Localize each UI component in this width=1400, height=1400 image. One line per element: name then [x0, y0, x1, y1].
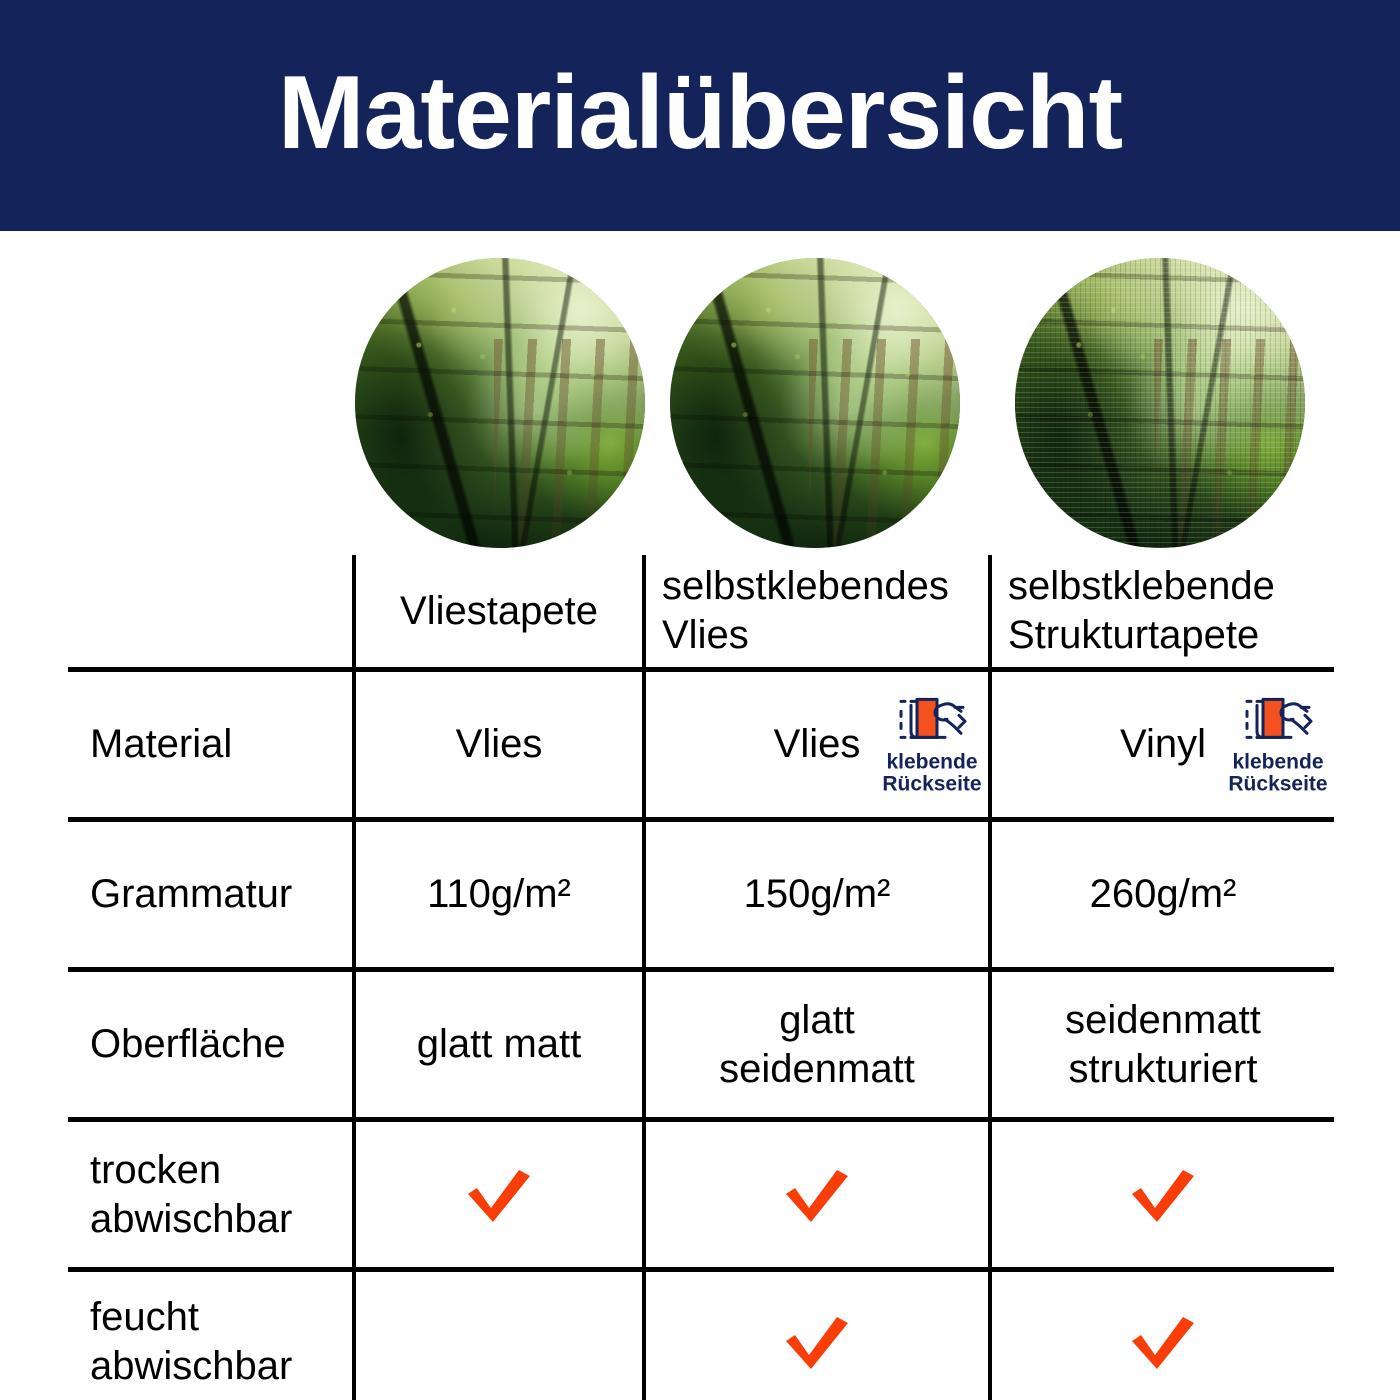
preview-images-row — [0, 258, 1400, 550]
peel-adhesive-backing-icon — [1239, 693, 1317, 749]
cell-value: glatt matt — [417, 1020, 582, 1069]
badge-line-1: klebende — [1232, 750, 1323, 773]
material-overview-page: Materialübersicht — [0, 0, 1400, 1400]
page-title: Materialübersicht — [278, 61, 1122, 165]
page-header-band: Materialübersicht — [0, 0, 1400, 231]
cell-grammatur-selbstklebendes-vlies: 150g/m² — [642, 822, 988, 967]
cell-material-selbstklebende-strukturtapete: Vinyl — [988, 672, 1334, 817]
table-header-selbstklebende-strukturtapete: selbstklebende Strukturtapete — [988, 555, 1334, 667]
row-label-trocken-abwischbar: trocken abwischbar — [68, 1122, 352, 1267]
cell-trocken-vliestapete — [352, 1122, 642, 1267]
cell-oberflaeche-vliestapete: glatt matt — [352, 972, 642, 1117]
checkmark-icon — [780, 1311, 854, 1373]
checkmark-icon — [780, 1164, 854, 1226]
adhesive-backing-badge: klebende Rückseite — [880, 693, 984, 796]
preview-image-selbstklebendes-vlies — [670, 258, 960, 548]
table-header-row: Vliestapete selbstklebendes Vlies selbst… — [68, 555, 1334, 667]
cell-material-vliestapete: Vlies — [352, 672, 642, 817]
adhesive-backing-badge: klebende Rückseite — [1226, 693, 1330, 796]
checkmark-icon — [462, 1164, 536, 1226]
table-row: Grammatur 110g/m² 150g/m² 260g/m² — [68, 817, 1334, 967]
cell-trocken-selbstklebendes-vlies — [642, 1122, 988, 1267]
table-header-vliestapete: Vliestapete — [352, 555, 642, 667]
cell-feucht-selbstklebendes-vlies — [642, 1272, 988, 1400]
table-row: Material Vlies Vlies — [68, 667, 1334, 817]
cell-feucht-selbstklebende-strukturtapete — [988, 1272, 1334, 1400]
forest-photo-icon — [355, 258, 645, 548]
row-label-feucht-abwischbar: feucht abwischbar — [68, 1272, 352, 1400]
cell-value: 110g/m² — [427, 870, 571, 919]
table-row: Oberfläche glatt matt glattseidenmatt se… — [68, 967, 1334, 1117]
cell-value: seidenmattstrukturiert — [1065, 996, 1261, 1094]
cell-value: Vlies — [774, 720, 861, 769]
checkmark-icon — [1126, 1164, 1200, 1226]
forest-photo-icon — [670, 258, 960, 548]
cell-material-selbstklebendes-vlies: Vlies — [642, 672, 988, 817]
table-row: trocken abwischbar — [68, 1117, 1334, 1267]
cell-value: 260g/m² — [1090, 870, 1237, 919]
cell-oberflaeche-selbstklebendes-vlies: glattseidenmatt — [642, 972, 988, 1117]
cell-trocken-selbstklebende-strukturtapete — [988, 1122, 1334, 1267]
cell-value: Vinyl — [1120, 720, 1206, 769]
cell-oberflaeche-selbstklebende-strukturtapete: seidenmattstrukturiert — [988, 972, 1334, 1117]
preview-image-selbstklebende-strukturtapete — [1015, 258, 1305, 548]
peel-adhesive-backing-icon — [893, 693, 971, 749]
cell-grammatur-vliestapete: 110g/m² — [352, 822, 642, 967]
cell-value: 150g/m² — [744, 870, 891, 919]
row-label-material: Material — [68, 672, 352, 817]
badge-line-2: Rückseite — [1228, 773, 1327, 796]
table-row: feucht abwischbar — [68, 1267, 1334, 1400]
badge-line-2: Rückseite — [882, 773, 981, 796]
checkmark-icon — [1126, 1311, 1200, 1373]
structure-texture-overlay — [1015, 258, 1305, 548]
row-label-oberflaeche: Oberfläche — [68, 972, 352, 1117]
material-comparison-table: Vliestapete selbstklebendes Vlies selbst… — [68, 555, 1334, 1400]
cell-grammatur-selbstklebende-strukturtapete: 260g/m² — [988, 822, 1334, 967]
cell-feucht-vliestapete — [352, 1272, 642, 1400]
cell-value: glattseidenmatt — [719, 996, 915, 1094]
preview-image-vliestapete — [355, 258, 645, 548]
empty-value — [356, 1272, 642, 1400]
table-header-corner — [68, 555, 352, 667]
cell-value: Vlies — [456, 720, 543, 769]
table-header-selbstklebendes-vlies: selbstklebendes Vlies — [642, 555, 988, 667]
row-label-grammatur: Grammatur — [68, 822, 352, 967]
badge-line-1: klebende — [886, 750, 977, 773]
